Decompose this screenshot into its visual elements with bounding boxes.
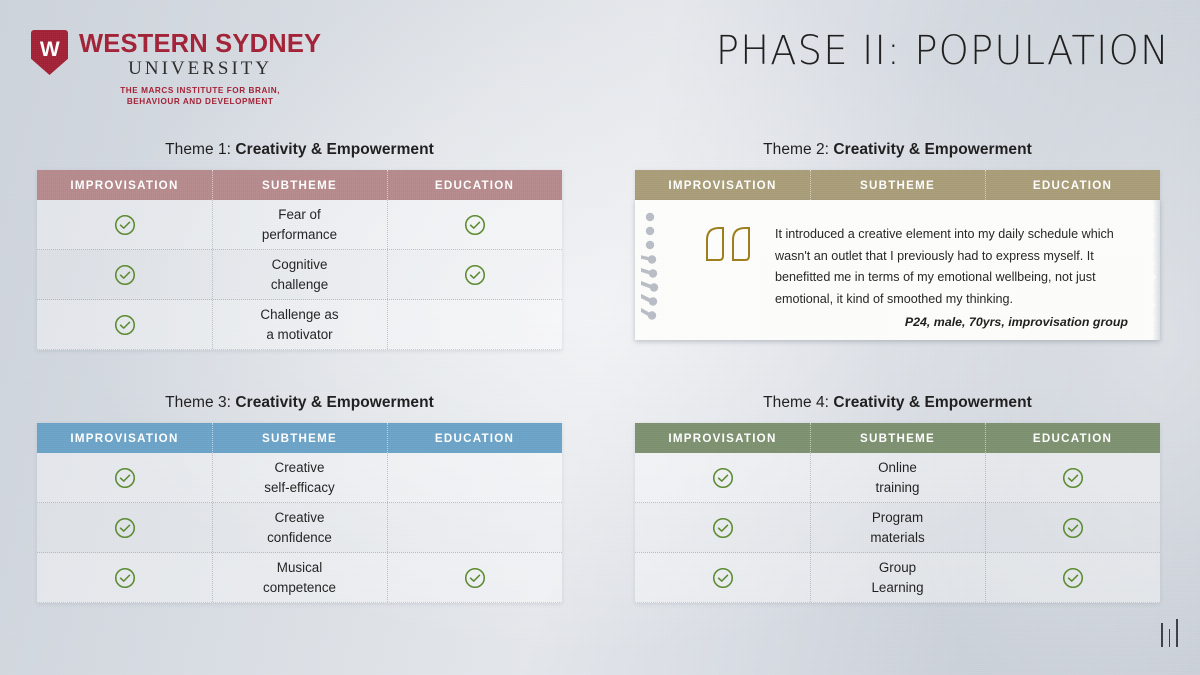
theme-table-4: IMPROVISATION SUBTHEME EDUCATION Onlinet… xyxy=(635,423,1160,603)
cell-improvisation xyxy=(37,553,212,602)
check-circle-icon xyxy=(114,264,136,286)
cell-subtheme: Musicalcompetence xyxy=(212,553,387,602)
theme-panel-4: Theme 4: Creativity & Empowerment IMPROV… xyxy=(635,394,1160,603)
column-header-subtheme: SUBTHEME xyxy=(810,170,985,200)
cell-education xyxy=(387,553,562,602)
column-header-education: EDUCATION xyxy=(387,170,562,200)
check-circle-icon xyxy=(1062,467,1084,489)
cell-education xyxy=(387,453,562,502)
corner-decoration xyxy=(1161,619,1178,647)
theme-panel-2: Theme 2: Creativity & Empowerment IMPROV… xyxy=(635,141,1160,340)
table-header-row: IMPROVISATION SUBTHEME EDUCATION xyxy=(635,423,1160,453)
check-circle-icon xyxy=(464,214,486,236)
table-body-4: OnlinetrainingProgrammaterialsGroupLearn… xyxy=(635,453,1160,603)
university-logo: W WESTERN SYDNEY UNIVERSITY THE MARCS IN… xyxy=(31,30,321,107)
quote-notepad: It introduced a creative element into my… xyxy=(635,200,1160,340)
panel-title-main: Creativity & Empowerment xyxy=(833,394,1031,411)
subtheme-label: GroupLearning xyxy=(871,558,923,596)
cell-subtheme: Fear ofperformance xyxy=(212,200,387,249)
logo-line-university-name: WESTERN SYDNEY xyxy=(79,31,321,57)
panel-title-main: Creativity & Empowerment xyxy=(235,394,433,411)
cell-improvisation xyxy=(635,453,810,502)
institute-suffix: INSTITUTE FOR BRAIN, xyxy=(174,86,280,95)
table-row: Onlinetraining xyxy=(635,453,1160,503)
cell-education xyxy=(985,503,1160,552)
theme-table-1: IMPROVISATION SUBTHEME EDUCATION Fear of… xyxy=(37,170,562,350)
slide-canvas: W WESTERN SYDNEY UNIVERSITY THE MARCS IN… xyxy=(0,0,1200,675)
panel-title-main: Creativity & Empowerment xyxy=(235,141,433,158)
cell-education xyxy=(387,300,562,349)
column-header-improvisation: IMPROVISATION xyxy=(635,170,810,200)
table-row: Programmaterials xyxy=(635,503,1160,553)
table-row: GroupLearning xyxy=(635,553,1160,603)
check-circle-icon xyxy=(114,214,136,236)
theme-table-2: IMPROVISATION SUBTHEME EDUCATION xyxy=(635,170,1160,340)
cell-improvisation xyxy=(37,250,212,299)
cell-improvisation xyxy=(635,503,810,552)
cell-improvisation xyxy=(635,553,810,602)
table-row: Challenge asa motivator xyxy=(37,300,562,350)
quote-text: It introduced a creative element into my… xyxy=(775,224,1122,311)
logo-line-university: UNIVERSITY xyxy=(79,58,321,80)
shield-letter: W xyxy=(40,39,59,60)
subtheme-label: Cognitivechallenge xyxy=(271,255,328,293)
check-circle-icon xyxy=(114,467,136,489)
theme-table-3: IMPROVISATION SUBTHEME EDUCATION Creativ… xyxy=(37,423,562,603)
corner-bar-3 xyxy=(1176,619,1178,647)
check-circle-icon xyxy=(1062,517,1084,539)
panel-title-prefix: Theme 2: xyxy=(763,141,833,158)
table-row: Creativeself-efficacy xyxy=(37,453,562,503)
table-body-1: Fear ofperformanceCognitivechallengeChal… xyxy=(37,200,562,350)
cell-education xyxy=(985,553,1160,602)
panel-title-main: Creativity & Empowerment xyxy=(833,141,1031,158)
panel-title-prefix: Theme 3: xyxy=(165,394,235,411)
cell-education xyxy=(387,250,562,299)
check-circle-icon xyxy=(114,567,136,589)
cell-subtheme: Creativeconfidence xyxy=(212,503,387,552)
subtheme-label: Creativeconfidence xyxy=(267,508,332,546)
column-header-improvisation: IMPROVISATION xyxy=(37,423,212,453)
cell-subtheme: Challenge asa motivator xyxy=(212,300,387,349)
cell-improvisation xyxy=(37,503,212,552)
table-row: Cognitivechallenge xyxy=(37,250,562,300)
quote-attribution: P24, male, 70yrs, improvisation group xyxy=(905,315,1128,329)
column-header-subtheme: SUBTHEME xyxy=(212,423,387,453)
cell-subtheme: Creativeself-efficacy xyxy=(212,453,387,502)
subtheme-label: Musicalcompetence xyxy=(263,558,336,596)
check-circle-icon xyxy=(1062,567,1084,589)
check-circle-icon xyxy=(712,467,734,489)
column-header-education: EDUCATION xyxy=(387,423,562,453)
theme-panel-1: Theme 1: Creativity & Empowerment IMPROV… xyxy=(37,141,562,350)
check-circle-icon xyxy=(114,314,136,336)
table-row: Fear ofperformance xyxy=(37,200,562,250)
panel-title-4: Theme 4: Creativity & Empowerment xyxy=(635,394,1160,412)
column-header-education: EDUCATION xyxy=(985,423,1160,453)
table-header-row: IMPROVISATION SUBTHEME EDUCATION xyxy=(635,170,1160,200)
subtheme-label: Challenge asa motivator xyxy=(260,305,338,343)
institute-line2: BEHAVIOUR AND DEVELOPMENT xyxy=(127,97,274,106)
column-header-improvisation: IMPROVISATION xyxy=(635,423,810,453)
column-header-improvisation: IMPROVISATION xyxy=(37,170,212,200)
column-header-education: EDUCATION xyxy=(985,170,1160,200)
cell-improvisation xyxy=(37,200,212,249)
panel-title-1: Theme 1: Creativity & Empowerment xyxy=(37,141,562,159)
check-circle-icon xyxy=(464,264,486,286)
cell-subtheme: Onlinetraining xyxy=(810,453,985,502)
logo-wordmark: WESTERN SYDNEY UNIVERSITY THE MARCS INST… xyxy=(79,30,321,107)
corner-bar-1 xyxy=(1161,623,1163,647)
check-circle-icon xyxy=(712,567,734,589)
table-body-3: Creativeself-efficacyCreativeconfidenceM… xyxy=(37,453,562,603)
table-header-row: IMPROVISATION SUBTHEME EDUCATION xyxy=(37,423,562,453)
cell-education xyxy=(985,453,1160,502)
check-circle-icon xyxy=(464,567,486,589)
table-row: Creativeconfidence xyxy=(37,503,562,553)
column-header-subtheme: SUBTHEME xyxy=(212,170,387,200)
table-row: Musicalcompetence xyxy=(37,553,562,603)
subtheme-label: Programmaterials xyxy=(870,508,924,546)
subtheme-label: Fear ofperformance xyxy=(262,205,337,243)
subtheme-label: Onlinetraining xyxy=(876,458,920,496)
page-title: PHASE II: POPULATION xyxy=(716,28,1170,74)
corner-bar-2 xyxy=(1169,629,1171,647)
institute-marcs: MARCS xyxy=(141,86,174,95)
panel-title-2: Theme 2: Creativity & Empowerment xyxy=(635,141,1160,159)
cell-subtheme: Programmaterials xyxy=(810,503,985,552)
panel-title-prefix: Theme 1: xyxy=(165,141,235,158)
cell-subtheme: Cognitivechallenge xyxy=(212,250,387,299)
cell-improvisation xyxy=(37,453,212,502)
cell-education xyxy=(387,200,562,249)
column-header-subtheme: SUBTHEME xyxy=(810,423,985,453)
check-circle-icon xyxy=(114,517,136,539)
table-header-row: IMPROVISATION SUBTHEME EDUCATION xyxy=(37,170,562,200)
theme-panel-3: Theme 3: Creativity & Empowerment IMPROV… xyxy=(37,394,562,603)
subtheme-label: Creativeself-efficacy xyxy=(264,458,334,496)
spiral-binding-icon xyxy=(641,211,683,331)
cell-improvisation xyxy=(37,300,212,349)
panel-title-3: Theme 3: Creativity & Empowerment xyxy=(37,394,562,412)
cell-subtheme: GroupLearning xyxy=(810,553,985,602)
institute-prefix: THE xyxy=(120,86,141,95)
logo-line-institute: THE MARCS INSTITUTE FOR BRAIN, BEHAVIOUR… xyxy=(79,85,321,107)
cell-education xyxy=(387,503,562,552)
quote-open-icon xyxy=(703,226,755,264)
check-circle-icon xyxy=(712,517,734,539)
shield-icon: W xyxy=(31,30,68,75)
panel-title-prefix: Theme 4: xyxy=(763,394,833,411)
